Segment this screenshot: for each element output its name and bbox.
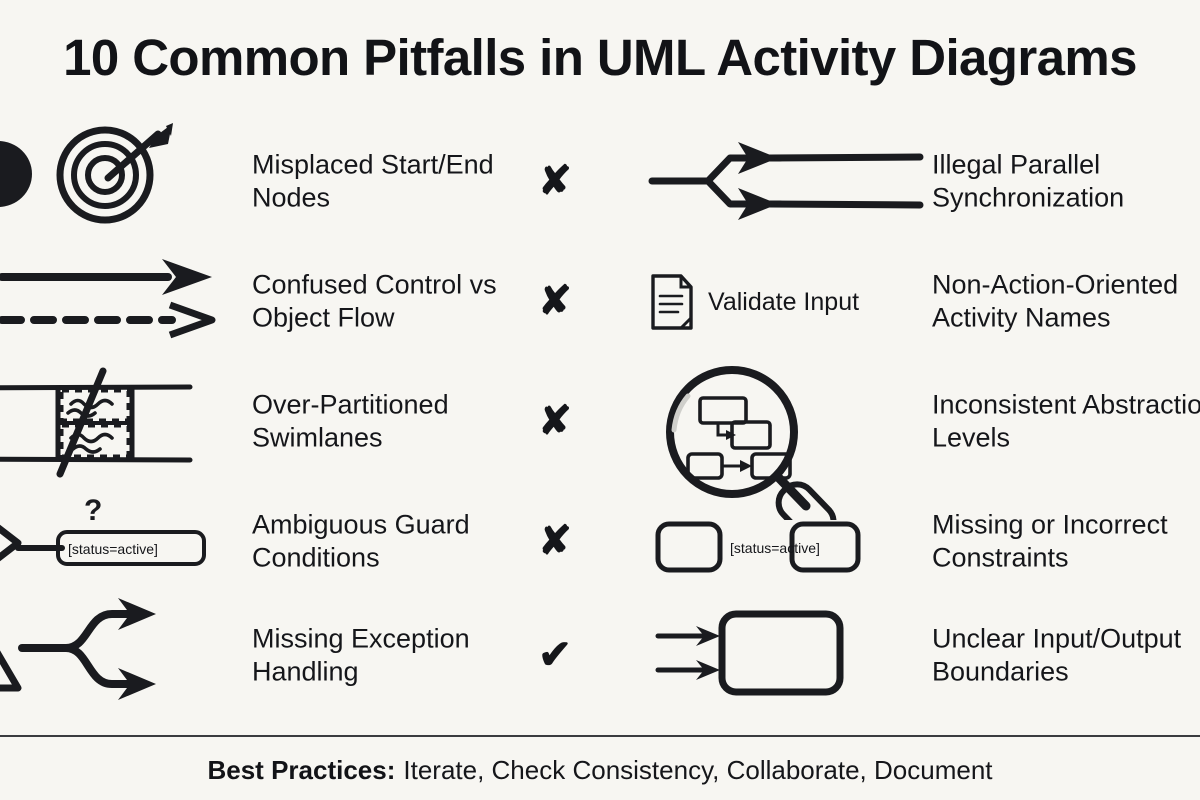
- pitfall-row: Misplaced Start/End Nodes ✘: [0, 122, 1200, 240]
- status-mark: ✘: [520, 362, 590, 480]
- pitfall-item-non-action-oriented-activity-names[interactable]: Validate Input Non-Action-Oriented Activ…: [600, 242, 1200, 360]
- decision-diamond-icon: ? [status=active]: [0, 482, 230, 600]
- cross-icon: ✘: [538, 401, 572, 441]
- start-end-node-icon: [0, 122, 230, 240]
- pitfall-item-illegal-parallel-synchronization[interactable]: Illegal Parallel Synchronization: [600, 122, 1200, 240]
- page-title: 10 Common Pitfalls in UML Activity Diagr…: [0, 22, 1200, 92]
- check-icon: ✔: [538, 635, 572, 675]
- document-icon-caption: Validate Input: [708, 288, 859, 317]
- footer-best-practices: Best Practices: Iterate, Check Consisten…: [0, 748, 1200, 792]
- pitfall-item-over-partitioned-swimlanes[interactable]: Over-Partitioned Swimlanes: [0, 362, 520, 480]
- control-vs-object-flow-arrows-icon: [0, 242, 230, 360]
- status-mark: ✘: [520, 122, 590, 240]
- status-mark: ✘: [520, 242, 590, 360]
- pitfall-label: Confused Control vs Object Flow: [252, 268, 522, 333]
- guard-label: [status=active]: [68, 541, 158, 557]
- pitfall-row: ? [status=active] Ambiguous Guard Condit…: [0, 482, 1200, 600]
- pitfall-label: Illegal Parallel Synchronization: [932, 148, 1200, 213]
- pitfall-row: Missing Exception Handling ✔: [0, 596, 1200, 714]
- pitfall-label: Missing or Incorrect Constraints: [932, 508, 1200, 573]
- input-output-boundary-icon: [630, 596, 930, 714]
- pitfall-row: Confused Control vs Object Flow ✘: [0, 242, 1200, 360]
- infographic-canvas: 10 Common Pitfalls in UML Activity Diagr…: [0, 0, 1200, 800]
- pitfall-row: Over-Partitioned Swimlanes ✘: [0, 362, 1200, 480]
- status-mark: ✘: [520, 482, 590, 600]
- document-icon: [648, 272, 696, 332]
- pitfall-item-inconsistent-abstraction-levels[interactable]: Inconsistent Abstraction Levels: [600, 362, 1200, 480]
- swimlane-partitions-icon: [0, 362, 230, 480]
- constraint-nodes-icon: [status=active]: [630, 482, 930, 600]
- document-icon-group: Validate Input: [630, 242, 930, 360]
- cross-icon: ✘: [538, 161, 572, 201]
- pitfall-item-confused-control-vs-object-flow[interactable]: Confused Control vs Object Flow: [0, 242, 520, 360]
- footer-divider: [0, 735, 1200, 737]
- magnifier-over-diagram-icon: [630, 362, 930, 480]
- pitfall-label: Unclear Input/Output Boundaries: [932, 622, 1200, 687]
- guard-label: [status=active]: [730, 540, 820, 556]
- cross-icon: ✘: [538, 281, 572, 321]
- pitfall-item-ambiguous-guard-conditions[interactable]: ? [status=active] Ambiguous Guard Condit…: [0, 482, 520, 600]
- svg-text:?: ?: [84, 494, 102, 527]
- pitfall-item-unclear-input-output-boundaries[interactable]: Unclear Input/Output Boundaries: [600, 596, 1200, 714]
- page-title-text: 10 Common Pitfalls in UML Activity Diagr…: [63, 32, 1137, 83]
- pitfall-label: Inconsistent Abstraction Levels: [932, 388, 1200, 453]
- pitfall-label: Ambiguous Guard Conditions: [252, 508, 522, 573]
- pitfall-item-missing-or-incorrect-constraints[interactable]: [status=active] Missing or Incorrect Con…: [600, 482, 1200, 600]
- warning-triangle-branch-icon: [0, 596, 230, 714]
- status-mark: ✔: [520, 596, 590, 714]
- pitfall-label: Non-Action-Oriented Activity Names: [932, 268, 1200, 333]
- cross-icon: ✘: [538, 521, 572, 561]
- pitfall-item-misplaced-start-end-nodes[interactable]: Misplaced Start/End Nodes: [0, 122, 520, 240]
- footer-heading: Best Practices:: [207, 755, 395, 786]
- pitfall-label: Misplaced Start/End Nodes: [252, 148, 522, 213]
- pitfall-label: Missing Exception Handling: [252, 622, 522, 687]
- pitfall-label: Over-Partitioned Swimlanes: [252, 388, 522, 453]
- pitfall-rows: Misplaced Start/End Nodes ✘: [0, 118, 1200, 718]
- pitfall-item-missing-exception-handling[interactable]: Missing Exception Handling: [0, 596, 520, 714]
- footer-text: Iterate, Check Consistency, Collaborate,…: [403, 755, 992, 786]
- fork-join-arrows-icon: [630, 122, 930, 240]
